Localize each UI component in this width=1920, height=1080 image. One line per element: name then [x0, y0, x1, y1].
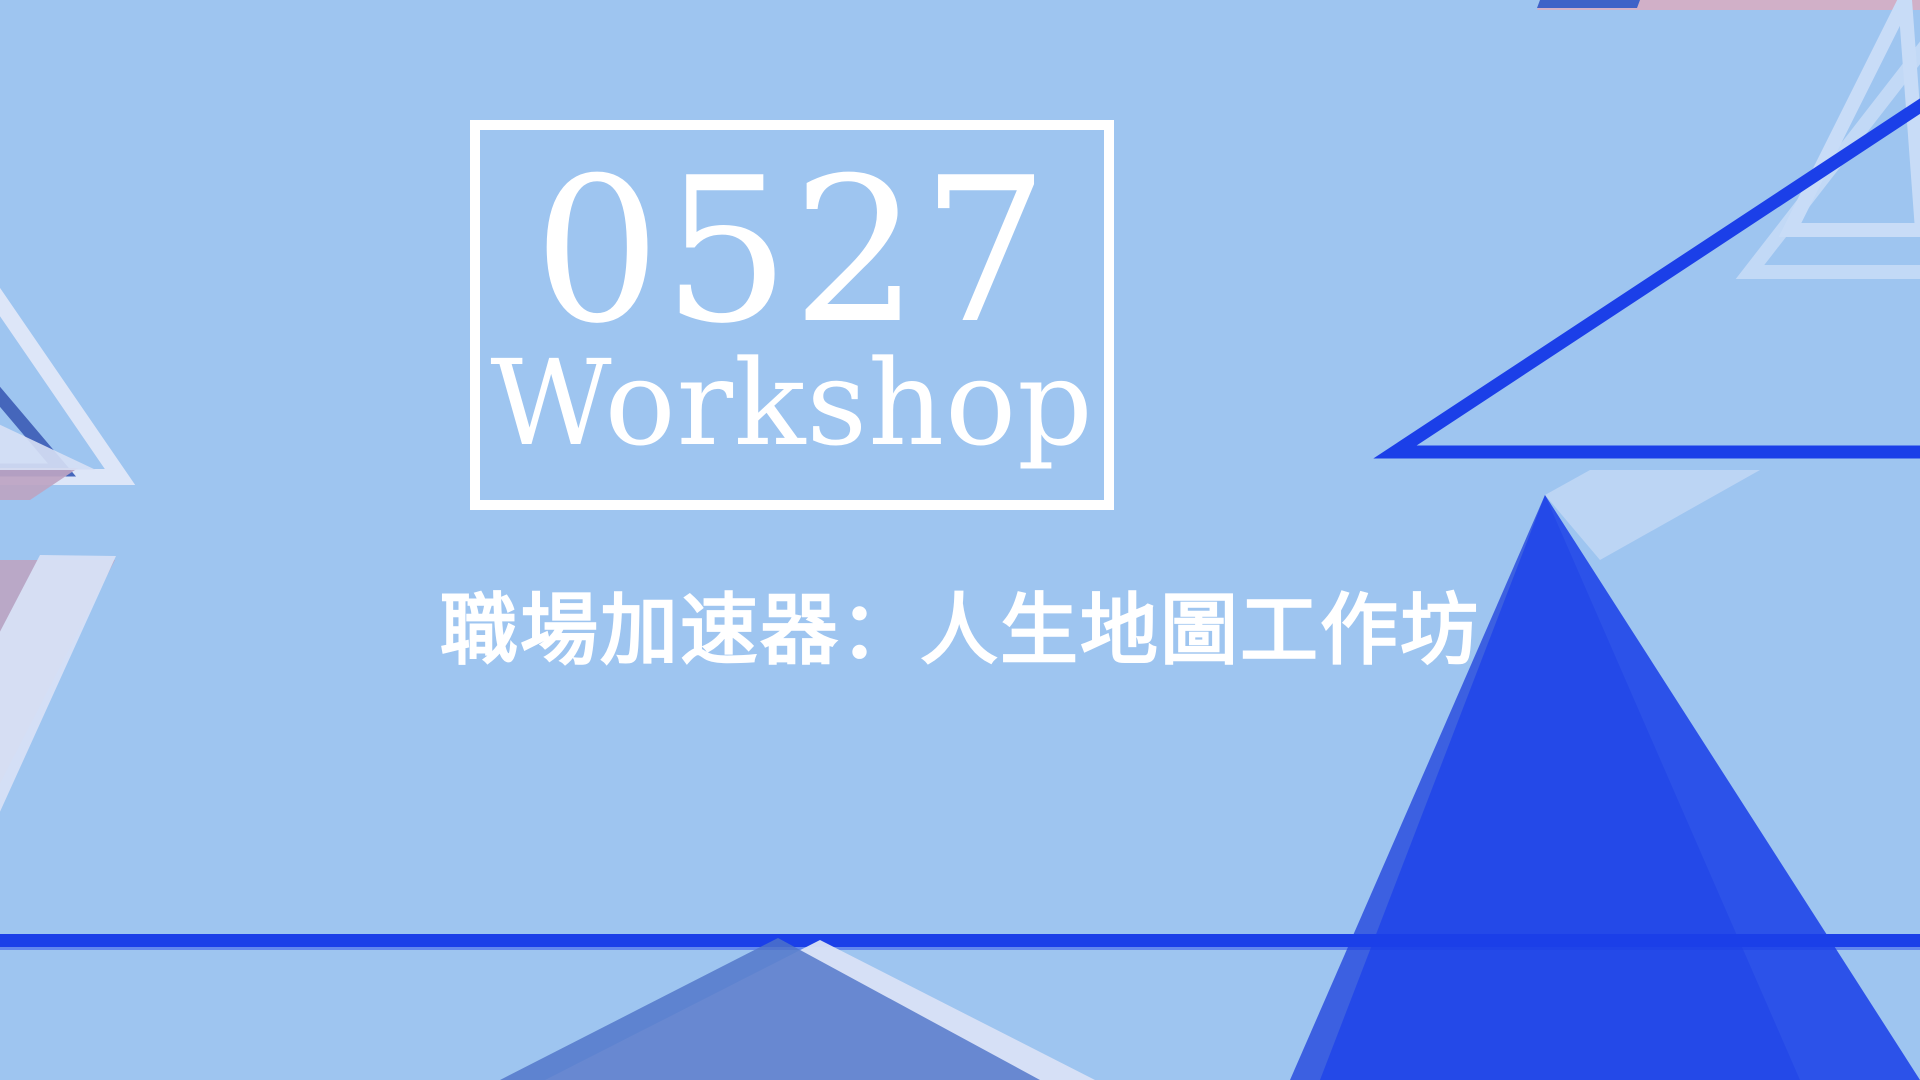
bottom-right-pale-sliver: [1545, 470, 1760, 560]
left-mauve-triangle: [0, 468, 78, 500]
top-right-pale-triangle-outline: [1790, 0, 1920, 230]
poster-canvas: 0527 Workshop 職場加速器：人生地圖工作坊: [0, 0, 1920, 1080]
bottom-horizontal-blue-rule-hairline: [0, 947, 1920, 950]
bottom-left-pale-triangle-2: [0, 420, 96, 470]
top-right-blue-strip: [1537, 0, 1640, 8]
left-medium-blue-triangle-outline: [0, 255, 62, 470]
bottom-right-blue-triangle-back: [1290, 495, 1800, 1080]
top-right-pale-triangle-outline-2: [1750, 40, 1920, 272]
bottom-center-pale-triangle: [545, 940, 1095, 1080]
bottom-horizontal-blue-rule: [0, 934, 1920, 947]
event-type-label: Workshop: [490, 344, 1093, 462]
event-subtitle: 職場加速器：人生地圖工作坊: [0, 588, 1920, 675]
top-right-pink-strip: [1537, 0, 1920, 10]
right-bright-blue-triangle-outline: [1395, 60, 1920, 452]
left-pale-triangle-outline: [0, 200, 120, 477]
bottom-right-blue-triangle-front: [1320, 495, 1920, 1080]
bottom-center-blue-triangle: [500, 938, 1040, 1080]
event-date-number: 0527: [534, 154, 1051, 350]
hero-frame: 0527 Workshop: [470, 120, 1114, 510]
